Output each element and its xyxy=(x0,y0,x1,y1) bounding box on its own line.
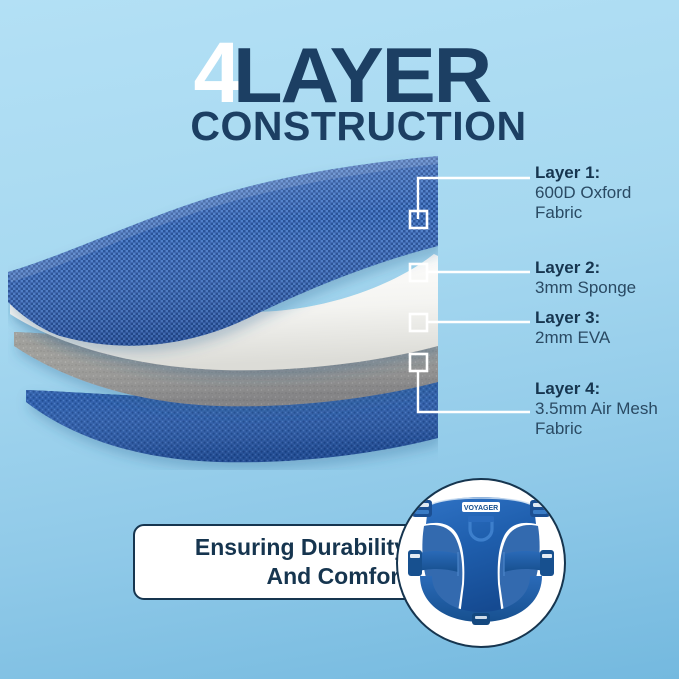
callout-layer-1-title: Layer 1: xyxy=(535,163,665,183)
page-title: 4LAYER CONSTRUCTION xyxy=(0,38,679,150)
callout-layer-2-desc: 3mm Sponge xyxy=(535,278,636,298)
buckle-side-left xyxy=(408,550,422,576)
callout-layer-4-title: Layer 4: xyxy=(535,379,665,399)
title-word: LAYER xyxy=(233,44,490,108)
callout-layer-3-desc: 2mm EVA xyxy=(535,328,610,348)
callout-layer-3: Layer 3: 2mm EVA xyxy=(535,308,610,348)
buckle-side-right xyxy=(540,550,554,576)
girth-strap-right xyxy=(504,551,546,572)
tagline-text: Ensuring Durability And Comfort xyxy=(133,524,425,600)
d-ring-base xyxy=(468,516,494,522)
callout-layer-4-desc: 3.5mm Air Mesh Fabric xyxy=(535,399,665,439)
callout-layer-4: Layer 4: 3.5mm Air Mesh Fabric xyxy=(535,379,665,439)
layer-stack-illustration xyxy=(8,150,438,470)
product-image-circle: VOYAGER xyxy=(396,478,566,648)
callout-layer-1-desc: 600D Oxford Fabric xyxy=(535,183,665,223)
tagline-line-1: Ensuring Durability xyxy=(195,533,407,562)
infographic-canvas: 4LAYER CONSTRUCTION xyxy=(0,0,679,679)
callout-layer-2-title: Layer 2: xyxy=(535,258,636,278)
buckle-top-right xyxy=(530,500,550,517)
title-subtitle: CONSTRUCTION xyxy=(38,103,679,150)
callout-layer-1: Layer 1: 600D Oxford Fabric xyxy=(535,163,665,223)
buckle-bottom xyxy=(472,613,490,625)
dog-harness-illustration: VOYAGER xyxy=(398,480,564,646)
brand-label-text: VOYAGER xyxy=(464,505,498,512)
buckle-top-left xyxy=(412,500,432,517)
girth-strap-left xyxy=(416,551,458,572)
title-number: 4 xyxy=(193,25,238,121)
title-main-row: 4LAYER xyxy=(0,38,679,109)
callout-layer-2: Layer 2: 3mm Sponge xyxy=(535,258,636,298)
callout-layer-3-title: Layer 3: xyxy=(535,308,610,328)
tagline-line-2: And Comfort xyxy=(266,562,407,591)
